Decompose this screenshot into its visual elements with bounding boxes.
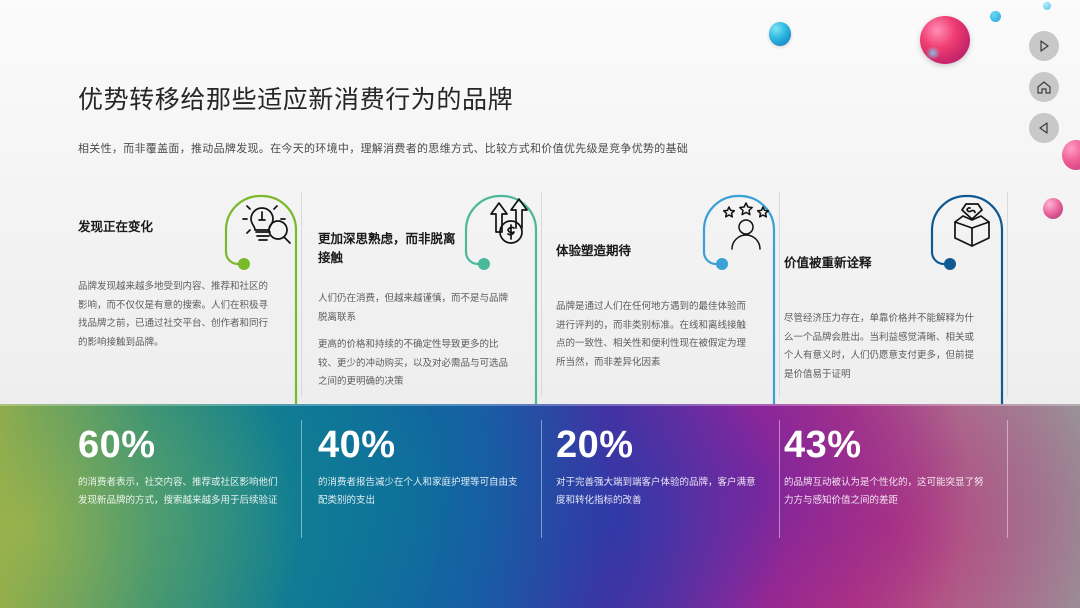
person-stars-icon (720, 200, 772, 252)
slide-canvas: 优势转移给那些适应新消费行为的品牌 相关性，而非覆盖面，推动品牌发现。在今天的环… (0, 0, 1080, 608)
stat-value: 43% (784, 426, 862, 464)
pillar-paragraph: 更高的价格和持续的不确定性导致更多的比较、更少的冲动购买，以及对必需品与可选品之… (318, 336, 514, 392)
decorative-bubble-magenta (920, 16, 970, 64)
home-icon (1036, 80, 1052, 95)
pillar-body: 尽管经济压力存在，单靠价格并不能解释为什么一个品牌会胜出。当利益感觉清晰、相关或… (784, 310, 980, 384)
pillar-paragraph: 尽管经济压力存在，单靠价格并不能解释为什么一个品牌会胜出。当利益感觉清晰、相关或… (784, 310, 980, 384)
decorative-bubble-small-cyan (990, 11, 1001, 22)
previous-slide-button[interactable] (1029, 113, 1059, 143)
slide-nav-controls (1029, 31, 1059, 143)
pillars-section: 发现正在变化 品牌发现越来越多地受到内容、推荐和社区的影响，而不仅仅是有意的搜索… (0, 186, 1080, 404)
stat-description: 对于完善强大端到端客户体验的品牌，客户满意度和转化指标的改善 (556, 474, 764, 509)
pillar-value: 价值被重新诠释 尽管经济压力存在，单靠价格并不能解释为什么一个品牌会胜出。当利益… (768, 186, 1008, 404)
pillar-paragraph: 人们仍在消费，但越来越谨慎，而不是与品牌脱离联系 (318, 290, 514, 327)
stat-description: 的消费者报告减少在个人和家庭护理等可自由支配类别的支出 (318, 474, 526, 509)
decorative-bubble-tiny-cyan (1043, 2, 1051, 10)
pillar-considered: 更加深思熟虑，而非脱离接触 人们仍在消费，但越来越谨慎，而不是与品牌脱离联系 更… (302, 186, 542, 404)
pillar-paragraph: 品牌是通过人们在任何地方遇到的最佳体验而进行评判的，而非类别标准。在线和离线接触… (556, 298, 752, 372)
play-triangle-icon (1037, 39, 1051, 53)
lightbulb-gear-magnifier-icon (240, 200, 294, 254)
open-box-diamond-icon (946, 200, 998, 252)
stat-card: 60% 的消费者表示，社交内容、推荐或社区影响他们发现新品牌的方式，搜索越来越多… (62, 426, 302, 586)
stat-value: 60% (78, 426, 156, 464)
next-slide-button[interactable] (1029, 31, 1059, 61)
stat-value: 40% (318, 426, 396, 464)
pillar-heading: 发现正在变化 (78, 218, 198, 237)
stat-card: 40% 的消费者报告减少在个人和家庭护理等可自由支配类别的支出 (302, 426, 542, 586)
stat-card: 20% 对于完善强大端到端客户体验的品牌，客户满意度和转化指标的改善 (540, 426, 780, 586)
pillar-discovery: 发现正在变化 品牌发现越来越多地受到内容、推荐和社区的影响，而不仅仅是有意的搜索… (62, 186, 302, 404)
home-button[interactable] (1029, 72, 1059, 102)
pillar-heading: 更加深思熟虑，而非脱离接触 (318, 230, 458, 269)
pillar-heading: 价值被重新诠释 (784, 254, 934, 273)
stat-description: 的品牌互动被认为是个性化的，这可能突显了努力方与感知价值之间的差距 (784, 474, 992, 509)
decorative-bubble-cyan (769, 22, 791, 46)
pillar-body: 人们仍在消费，但越来越谨慎，而不是与品牌脱离联系 更高的价格和持续的不确定性导致… (318, 290, 514, 392)
pillar-body: 品牌是通过人们在任何地方遇到的最佳体验而进行评判的，而非类别标准。在线和离线接触… (556, 298, 752, 372)
page-title: 优势转移给那些适应新消费行为的品牌 (78, 80, 513, 116)
page-subtitle: 相关性，而非覆盖面，推动品牌发现。在今天的环境中，理解消费者的思维方式、比较方式… (78, 140, 688, 156)
pillar-paragraph: 品牌发现越来越多地受到内容、推荐和社区的影响，而不仅仅是有意的搜索。人们在积极寻… (78, 278, 274, 352)
pillar-experience: 体验塑造期待 品牌是通过人们在任何地方遇到的最佳体验而进行评判的，而非类别标准。… (540, 186, 780, 404)
stat-card: 43% 的品牌互动被认为是个性化的，这可能突显了努力方与感知价值之间的差距 (768, 426, 1008, 586)
back-triangle-icon (1037, 121, 1051, 135)
pillar-body: 品牌发现越来越多地受到内容、推荐和社区的影响，而不仅仅是有意的搜索。人们在积极寻… (78, 278, 274, 352)
band-top-divider (0, 404, 1080, 406)
stat-divider (1007, 420, 1008, 538)
pillar-heading: 体验塑造期待 (556, 242, 706, 261)
stat-description: 的消费者表示，社交内容、推荐或社区影响他们发现新品牌的方式，搜索越来越多用于后续… (78, 474, 286, 509)
statistics-band: 60% 的消费者表示，社交内容、推荐或社区影响他们发现新品牌的方式，搜索越来越多… (0, 404, 1080, 608)
stat-value: 20% (556, 426, 634, 464)
arrows-dollar-coin-icon (482, 198, 536, 252)
